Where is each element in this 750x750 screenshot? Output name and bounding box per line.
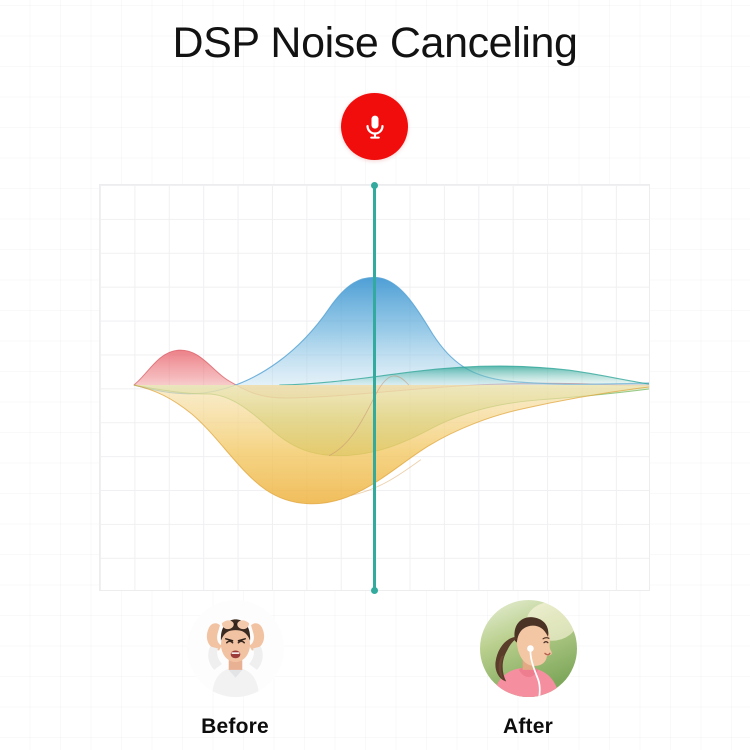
microphone-badge[interactable] [341, 93, 408, 160]
page-title: DSP Noise Canceling [0, 19, 750, 68]
comparison-before-label: Before [155, 715, 315, 739]
microphone-icon [361, 113, 389, 141]
marker-dot-bottom [371, 587, 378, 594]
comparison-after-label: After [448, 715, 608, 739]
dsp-noise-canceling-page: DSP Noise Canceling [0, 0, 750, 750]
frustrated-man-photo [187, 600, 284, 697]
center-marker-line [373, 184, 376, 592]
marker-dot-top [371, 182, 378, 189]
comparison-after: After [448, 600, 608, 739]
comparison-before: Before [155, 600, 315, 739]
wave-yellow-fill [134, 385, 649, 504]
relaxed-woman-photo [480, 600, 577, 697]
